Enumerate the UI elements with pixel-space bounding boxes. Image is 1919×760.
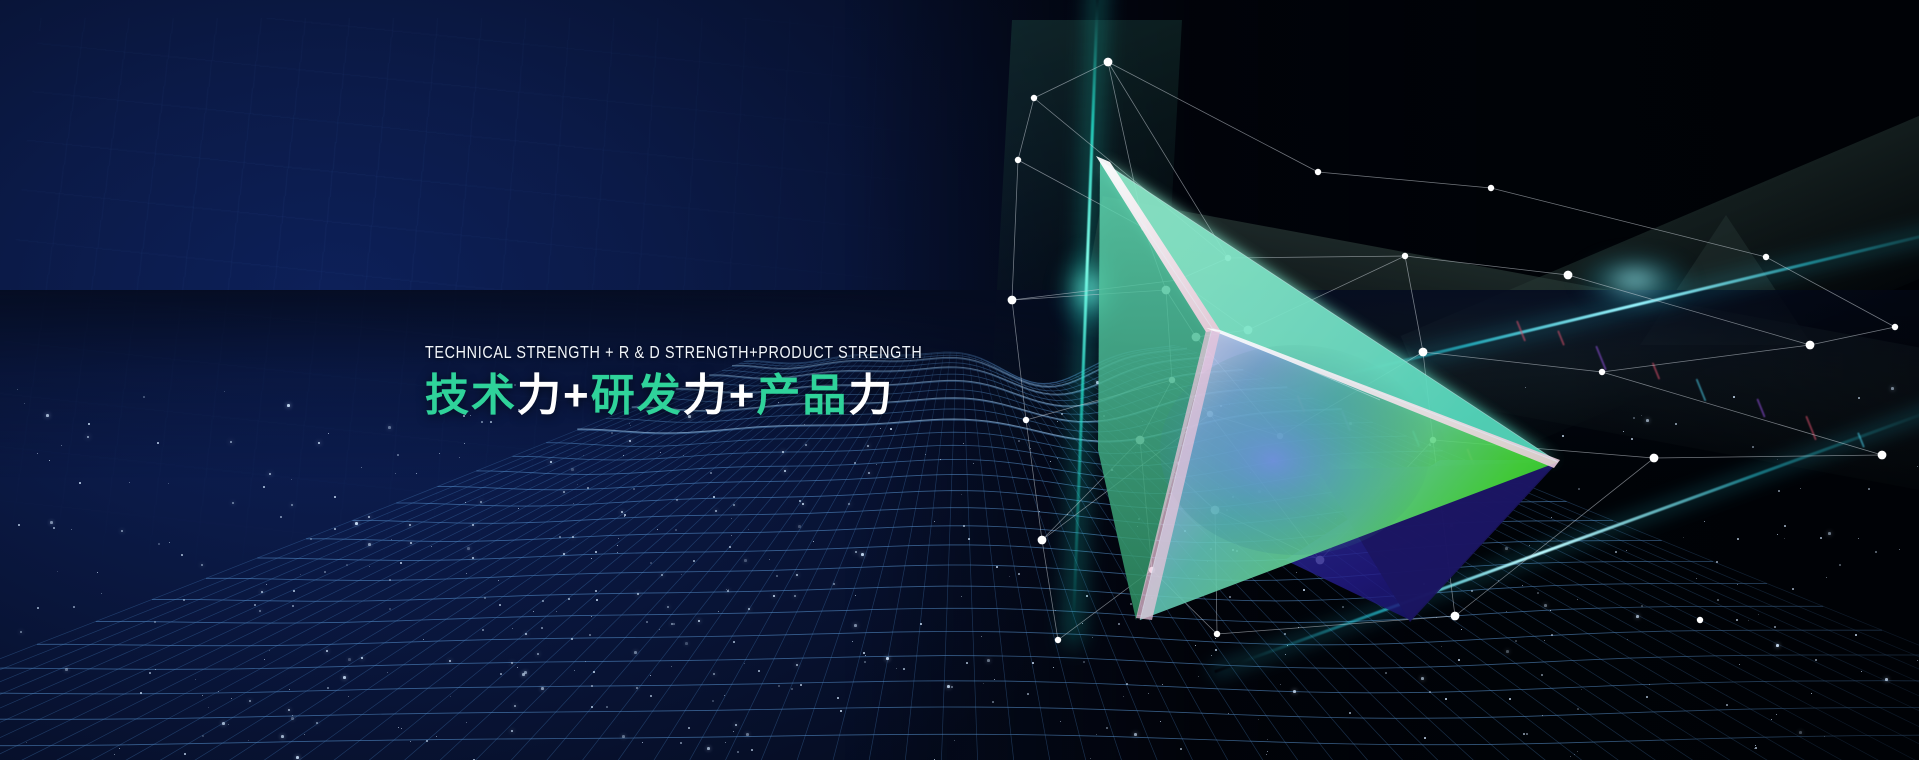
prism-arrow-graphic <box>1080 150 1780 620</box>
title-segment-1: 力 <box>517 371 563 420</box>
network-node <box>1892 324 1898 330</box>
network-node <box>1031 95 1037 101</box>
headline-block: TECHNICAL STRENGTH + R & D STRENGTH+PROD… <box>425 342 1045 423</box>
headline-eyebrow: TECHNICAL STRENGTH + R & D STRENGTH+PROD… <box>425 342 933 364</box>
headline-title: 技术力+研发力+产品力 <box>425 370 1045 423</box>
network-edge <box>1042 540 1058 640</box>
title-segment-4: 力 <box>683 371 729 420</box>
hero-banner: TECHNICAL STRENGTH + R & D STRENGTH+PROD… <box>0 0 1919 760</box>
network-edge <box>1034 62 1108 98</box>
prism-svg <box>1080 150 1780 620</box>
title-segment-2: + <box>563 371 591 420</box>
network-node <box>1015 157 1021 163</box>
network-node <box>1104 58 1113 67</box>
title-segment-3: 研发 <box>591 371 683 420</box>
network-node <box>1038 536 1047 545</box>
network-node <box>1055 637 1061 643</box>
network-edge <box>1018 98 1034 160</box>
network-node <box>1806 341 1815 350</box>
network-node <box>1878 451 1887 460</box>
title-segment-0: 技术 <box>425 371 517 420</box>
network-edge <box>1012 160 1018 300</box>
title-segment-6: 产品 <box>756 371 848 420</box>
network-node <box>1008 296 1017 305</box>
network-edge <box>1810 327 1895 345</box>
network-edge <box>1026 420 1042 540</box>
network-edge <box>1766 257 1895 327</box>
network-node <box>1214 631 1220 637</box>
title-segment-7: 力 <box>848 371 894 420</box>
title-segment-5: + <box>729 371 757 420</box>
